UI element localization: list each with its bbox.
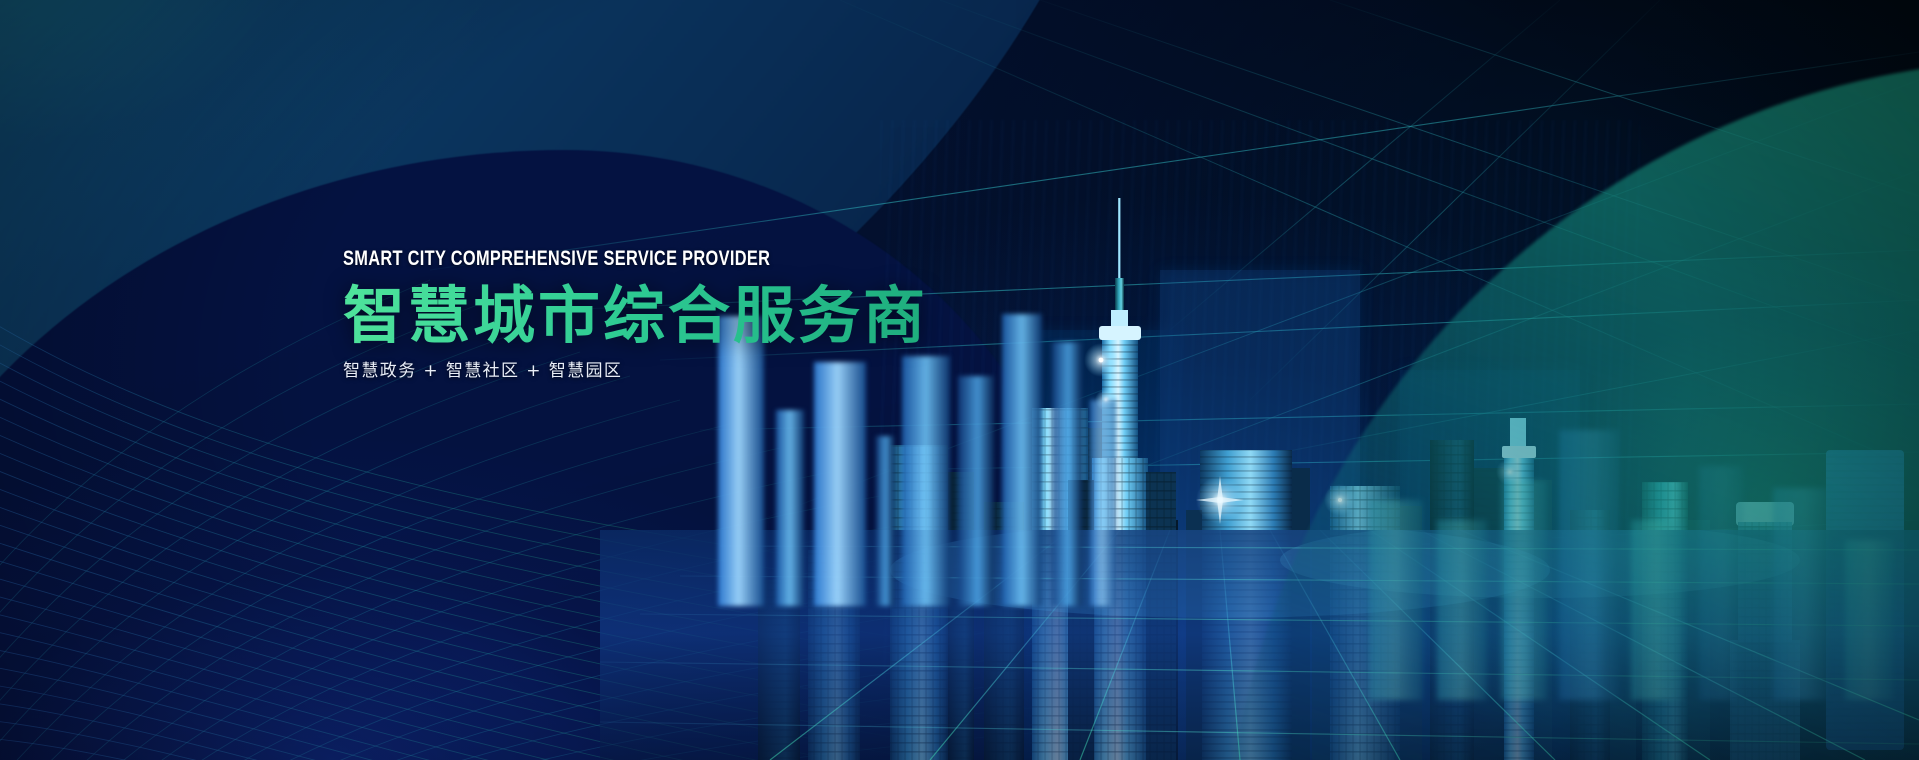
green-wedge-glow (1279, 260, 1919, 760)
eyebrow-text: SMART CITY COMPREHENSIVE SERVICE PROVIDE… (343, 248, 983, 269)
page-title: 智慧城市综合服务商 (343, 283, 1163, 350)
hero-banner: SMART CITY COMPREHENSIVE SERVICE PROVIDE… (0, 0, 1919, 760)
subtitle-text: 智慧政务 + 智慧社区 + 智慧园区 (343, 360, 1163, 382)
headline-block: SMART CITY COMPREHENSIVE SERVICE PROVIDE… (343, 248, 1163, 382)
